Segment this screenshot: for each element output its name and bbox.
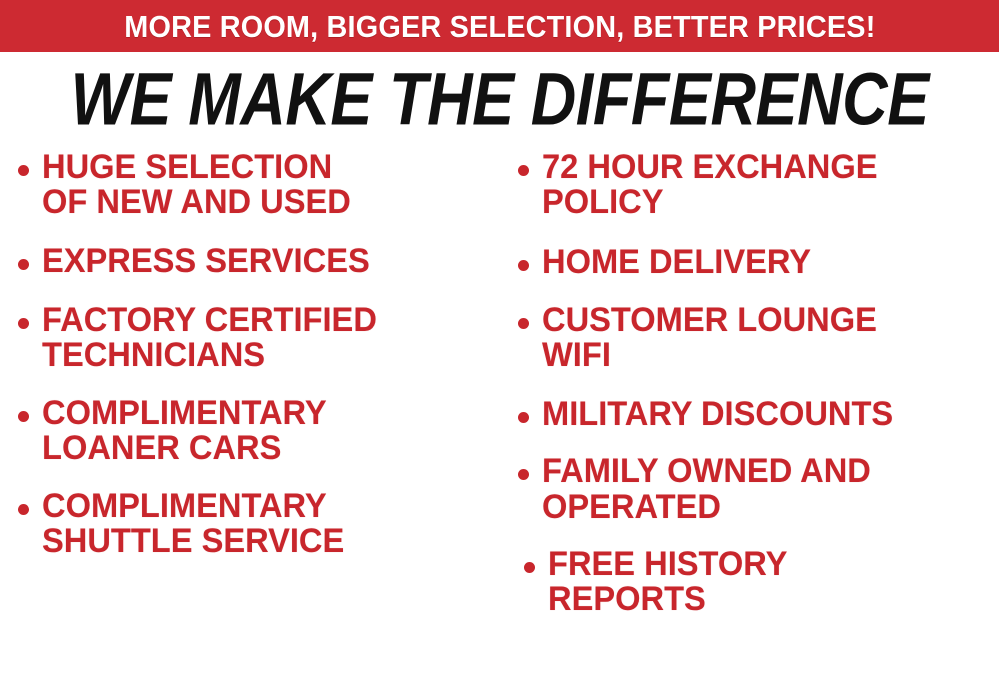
list-item: FACTORY CERTIFIED TECHNICIANS — [18, 303, 500, 374]
promo-banner: MORE ROOM, BIGGER SELECTION, BETTER PRIC… — [0, 0, 999, 52]
bullet-dot-icon — [18, 504, 29, 515]
list-item-label: COMPLIMENTARY SHUTTLE SERVICE — [42, 489, 482, 560]
list-item-label: 72 HOUR EXCHANGE POLICY — [542, 150, 981, 221]
advertisement-banner: MORE ROOM, BIGGER SELECTION, BETTER PRIC… — [0, 0, 999, 692]
promo-banner-text: MORE ROOM, BIGGER SELECTION, BETTER PRIC… — [124, 11, 875, 42]
list-item-label: EXPRESS SERVICES — [42, 244, 482, 279]
bullet-dot-icon — [524, 562, 535, 573]
list-item-label: FREE HISTORY REPORTS — [548, 547, 981, 618]
bullet-dot-icon — [18, 259, 29, 270]
list-item: MILITARY DISCOUNTS — [518, 397, 999, 432]
list-item-label: COMPLIMENTARY LOANER CARS — [42, 396, 482, 467]
list-item-label: MILITARY DISCOUNTS — [542, 397, 981, 432]
list-item-label: CUSTOMER LOUNGE WIFI — [542, 303, 981, 374]
list-item: FREE HISTORY REPORTS — [518, 547, 999, 618]
bullet-dot-icon — [518, 165, 529, 176]
list-item: CUSTOMER LOUNGE WIFI — [518, 303, 999, 374]
feature-column-left: HUGE SELECTION OF NEW AND USED EXPRESS S… — [0, 150, 500, 692]
bullet-dot-icon — [518, 412, 529, 423]
bullet-dot-icon — [518, 260, 529, 271]
headline-container: WE MAKE THE DIFFERENCE — [0, 57, 999, 141]
list-item: HOME DELIVERY — [518, 245, 999, 280]
list-item-label: HUGE SELECTION OF NEW AND USED — [42, 150, 482, 221]
list-item: COMPLIMENTARY LOANER CARS — [18, 396, 500, 467]
feature-columns: HUGE SELECTION OF NEW AND USED EXPRESS S… — [0, 150, 999, 692]
feature-column-right: 72 HOUR EXCHANGE POLICY HOME DELIVERY CU… — [500, 150, 999, 692]
list-item: COMPLIMENTARY SHUTTLE SERVICE — [18, 489, 500, 560]
bullet-dot-icon — [18, 165, 29, 176]
page-title: WE MAKE THE DIFFERENCE — [70, 62, 928, 136]
bullet-dot-icon — [518, 469, 529, 480]
list-item-label: HOME DELIVERY — [542, 245, 981, 280]
list-item-label: FACTORY CERTIFIED TECHNICIANS — [42, 303, 482, 374]
list-item: EXPRESS SERVICES — [18, 244, 500, 279]
list-item: HUGE SELECTION OF NEW AND USED — [18, 150, 500, 221]
list-item-label: FAMILY OWNED AND OPERATED — [542, 454, 981, 525]
bullet-dot-icon — [18, 318, 29, 329]
bullet-dot-icon — [18, 411, 29, 422]
list-item: FAMILY OWNED AND OPERATED — [518, 454, 999, 525]
bullet-dot-icon — [518, 318, 529, 329]
list-item: 72 HOUR EXCHANGE POLICY — [518, 150, 999, 221]
